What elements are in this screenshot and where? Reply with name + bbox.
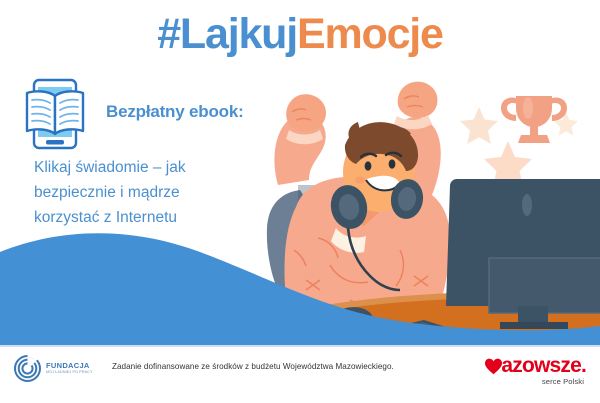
heart-icon (484, 358, 503, 375)
body-text: Klikaj świadomie – jak bezpiecznie i mąd… (34, 155, 274, 230)
footer-divider (0, 345, 600, 347)
wave-decoration (0, 230, 600, 345)
mazowsze-tagline: serce Polski (466, 377, 584, 386)
person-left-arm (274, 94, 326, 185)
mazowsze-logo: azowsze. serce Polski (466, 355, 586, 387)
grant-statement: Zadanie dofinansowane ze środków z budże… (112, 362, 394, 371)
mazowsze-wordmark: azowsze. (466, 355, 586, 376)
body-line-3: korzystać z Internetu (34, 205, 274, 230)
poster: #LajkujEmocje (0, 0, 600, 403)
foundation-logo: FUNDACJA MOJ ŁADNIEJ PO PRACY (14, 354, 104, 382)
ebook-tablet-icon (22, 78, 88, 150)
headline: Bezpłatny ebook: (106, 102, 244, 122)
trophy-icon (501, 96, 567, 143)
foundation-name: FUNDACJA (46, 361, 93, 370)
body-line-2: bezpiecznie i mądrze (34, 180, 274, 205)
star-icon (460, 107, 498, 144)
body-line-1: Klikaj świadomie – jak (34, 155, 274, 180)
mazowsze-wordmark-text: azowsze. (501, 355, 586, 376)
foundation-tagline: MOJ ŁADNIEJ PO PRACY (46, 370, 93, 375)
circular-swirl-mark (14, 355, 41, 382)
foundation-logo-text: FUNDACJA MOJ ŁADNIEJ PO PRACY (46, 361, 93, 375)
